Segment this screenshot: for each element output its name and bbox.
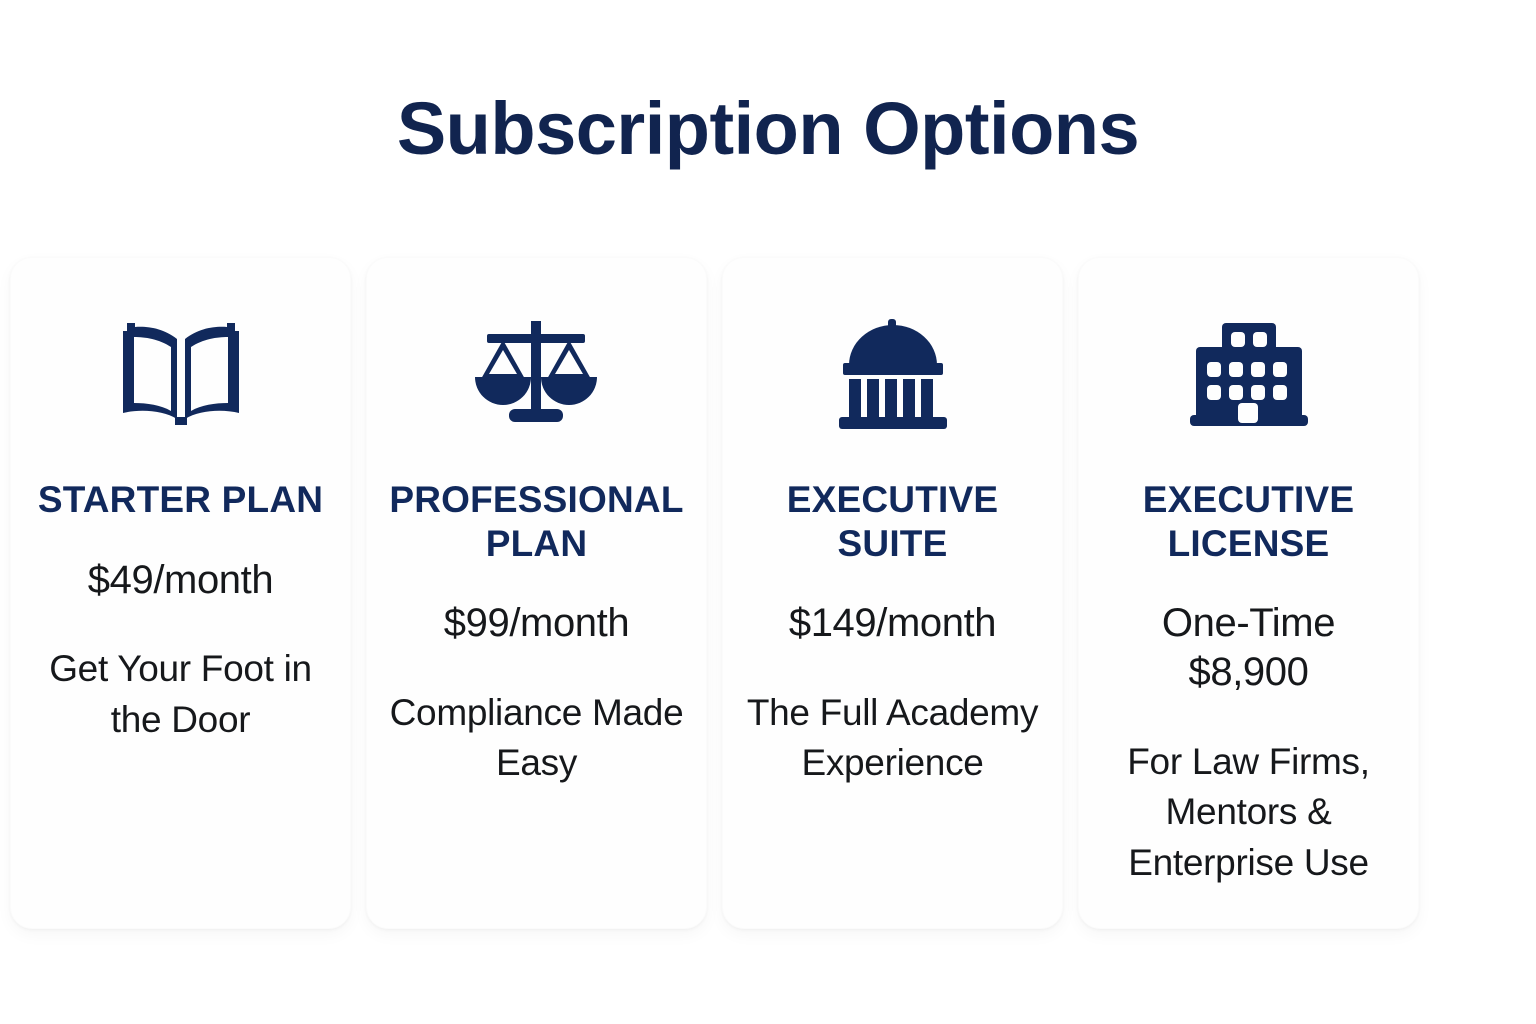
plan-description: The Full Academy Experience bbox=[741, 688, 1044, 789]
plan-description: Get Your Foot in the Door bbox=[29, 644, 332, 745]
page-title: Subscription Options bbox=[0, 0, 1536, 166]
plan-price: One-Time $8,900 bbox=[1097, 599, 1400, 697]
plan-description: For Law Firms, Mentors & Enterprise Use bbox=[1097, 737, 1400, 888]
balance-scales-icon bbox=[471, 314, 603, 432]
pricing-page: Subscription Options STARTER PLAN bbox=[0, 0, 1536, 1024]
plan-cards-row: STARTER PLAN $49/month Get Your Foot in … bbox=[10, 257, 1450, 929]
plan-card-executive-license[interactable]: EXECUTIVE LICENSE One-Time $8,900 For La… bbox=[1078, 257, 1419, 929]
plan-name: STARTER PLAN bbox=[38, 478, 323, 522]
plan-price: $99/month bbox=[444, 599, 629, 648]
office-building-icon bbox=[1183, 314, 1315, 432]
plan-name: EXECUTIVE SUITE bbox=[741, 478, 1044, 565]
plan-price: $49/month bbox=[88, 556, 273, 605]
plan-card-executive-suite[interactable]: EXECUTIVE SUITE $149/month The Full Acad… bbox=[722, 257, 1063, 929]
plan-card-professional[interactable]: PROFESSIONAL PLAN $99/month Compliance M… bbox=[366, 257, 707, 929]
courthouse-icon bbox=[827, 314, 959, 432]
plan-description: Compliance Made Easy bbox=[385, 688, 688, 789]
plan-card-starter[interactable]: STARTER PLAN $49/month Get Your Foot in … bbox=[10, 257, 351, 929]
plan-price: $149/month bbox=[789, 599, 996, 648]
open-book-icon bbox=[115, 314, 247, 432]
plan-name: PROFESSIONAL PLAN bbox=[385, 478, 688, 565]
plan-name: EXECUTIVE LICENSE bbox=[1097, 478, 1400, 565]
